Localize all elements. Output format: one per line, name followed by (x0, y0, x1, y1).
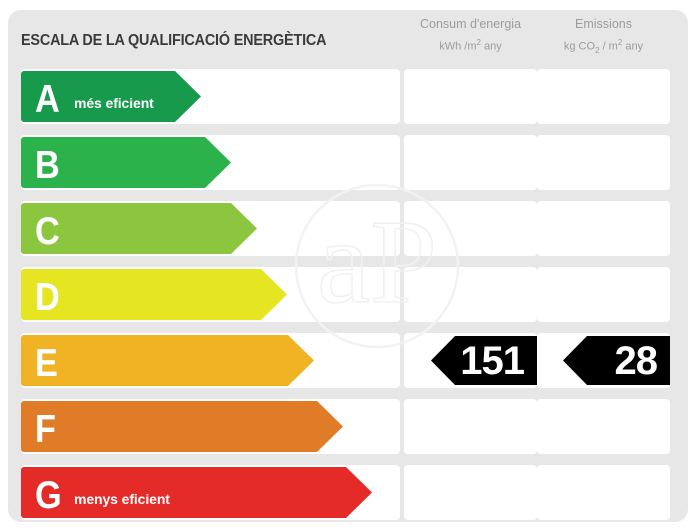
column-header-emissions-unit: kg CO2 / m2 any (537, 35, 670, 59)
label-header: ESCALA DE LA QUALIFICACIÓ ENERGÈTICA Con… (8, 10, 688, 62)
column-header-emissions: Emissions kg CO2 / m2 any (537, 16, 670, 59)
scale-row-c: C (8, 201, 688, 256)
emissions-cell-g (537, 465, 670, 520)
consumption-cell-c (404, 201, 537, 256)
rating-letter-e: E (35, 344, 58, 383)
energy-label-card: ESCALA DE LA QUALIFICACIÓ ENERGÈTICA Con… (8, 10, 688, 522)
rating-letter-f: F (35, 410, 56, 449)
scale-row-a: Amés eficient (8, 69, 688, 124)
column-header-emissions-title: Emissions (537, 16, 670, 33)
consumption-cell-d (404, 267, 537, 322)
consumption-value-badge-text: 151 (460, 341, 524, 381)
rating-bar-b: B (21, 137, 231, 188)
rating-bar-c: C (21, 203, 257, 254)
page-title: ESCALA DE LA QUALIFICACIÓ ENERGÈTICA (21, 32, 326, 50)
emissions-cell-b (537, 135, 670, 190)
rating-bar-d: D (21, 269, 287, 320)
rating-letter-a: A (35, 80, 60, 119)
scale-row-g: Gmenys eficient (8, 465, 688, 520)
emissions-value-badge: 28 (563, 336, 670, 385)
emissions-cell-c (537, 201, 670, 256)
emissions-value-badge-text: 28 (615, 341, 658, 381)
consumption-cell-g (404, 465, 537, 520)
column-header-consumption-unit: kWh /m2 any (404, 35, 537, 55)
rating-bar-e: E (21, 335, 314, 386)
emissions-cell-f (537, 399, 670, 454)
rating-letter-d: D (35, 278, 60, 317)
rating-bar-f: F (21, 401, 343, 452)
scale-row-f: F (8, 399, 688, 454)
column-header-consumption-title: Consum d'energia (404, 16, 537, 33)
consumption-cell-e: 151 (404, 333, 537, 388)
rating-letter-g: G (35, 476, 62, 515)
column-header-consumption: Consum d'energia kWh /m2 any (404, 16, 537, 55)
emissions-cell-a (537, 69, 670, 124)
rating-caption-a: més eficient (74, 95, 154, 111)
scale-row-d: D (8, 267, 688, 322)
consumption-cell-b (404, 135, 537, 190)
emissions-cell-d (537, 267, 670, 322)
scale-row-b: B (8, 135, 688, 190)
emissions-cell-e: 28 (537, 333, 670, 388)
scale-row-e: 15128E (8, 333, 688, 388)
consumption-cell-f (404, 399, 537, 454)
rating-letter-c: C (35, 212, 60, 251)
consumption-cell-a (404, 69, 537, 124)
rating-caption-g: menys eficient (74, 491, 170, 507)
rating-bar-a: Amés eficient (21, 71, 201, 122)
rating-letter-b: B (35, 146, 60, 185)
rating-bar-g: Gmenys eficient (21, 467, 372, 518)
consumption-value-badge: 151 (431, 336, 537, 385)
